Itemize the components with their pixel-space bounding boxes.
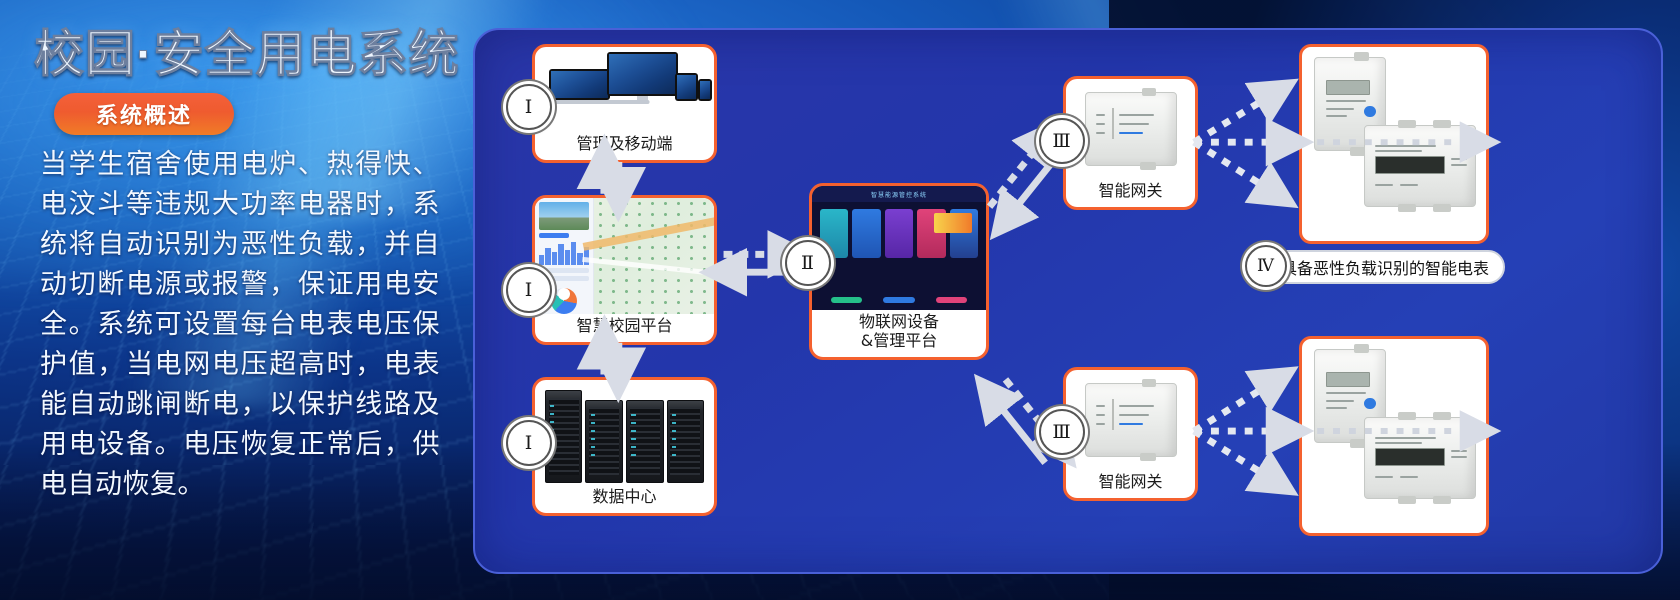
section-badge: 系统概述 xyxy=(54,93,234,135)
numeral-badge-admin-mobile: Ⅰ xyxy=(506,84,552,130)
iot-label-line2: &管理平台 xyxy=(861,331,937,350)
gateway-bottom-thumbnail xyxy=(1066,370,1195,470)
connector-gateway-bottom-meters xyxy=(1194,379,1289,482)
three-phase-meter-icon xyxy=(1364,417,1476,499)
iot-platform-thumbnail: 智慧能源管控系统 xyxy=(812,186,986,310)
overview-body-text: 当学生宿舍使用电炉、热得快、电汶斗等违规大功率电器时，系统将自动识别为恶性负载，… xyxy=(40,145,440,505)
connector-campus-datacenter xyxy=(604,343,618,375)
connector-admin-campus xyxy=(604,162,618,194)
meter-panel-top[interactable] xyxy=(1299,44,1489,244)
node-label-gateway-top: 智能网关 xyxy=(1066,179,1195,207)
numeral-badge-gateway-top: Ⅲ xyxy=(1039,118,1085,164)
monitor-icon xyxy=(607,52,679,96)
data-center-thumbnail xyxy=(535,380,714,485)
connector-campus-iot xyxy=(724,254,792,272)
numeral-badge-iot-platform: Ⅱ xyxy=(785,240,831,286)
node-card-iot-platform[interactable]: 智慧能源管控系统 物联网设备 &管理平台 xyxy=(809,183,989,360)
iot-highlight-chip xyxy=(934,213,972,233)
admin-mobile-thumbnail xyxy=(535,47,714,132)
connector-gateway-top-meters xyxy=(1194,92,1289,195)
numeral-badge-data-center: Ⅰ xyxy=(506,420,552,466)
smart-gateway-icon xyxy=(1085,92,1177,166)
node-label-data-center: 数据中心 xyxy=(535,485,714,513)
dashboard-map xyxy=(594,198,714,314)
numeral-badge-smart-campus: Ⅰ xyxy=(506,267,552,313)
phone-icon xyxy=(698,79,712,101)
laptop-icon xyxy=(549,69,610,100)
node-label-smart-campus: 智慧校园平台 xyxy=(535,314,714,342)
tablet-icon xyxy=(675,73,698,102)
page-title: 校园·安全用电系统 xyxy=(34,14,460,86)
meter-panel-bottom[interactable] xyxy=(1299,336,1489,536)
monitor-base xyxy=(610,100,649,104)
node-label-iot-platform: 物联网设备 &管理平台 xyxy=(812,310,986,357)
numeral-badge-callout: Ⅳ xyxy=(1245,245,1287,287)
three-phase-meter-icon xyxy=(1364,125,1476,207)
overview-column: 校园·安全用电系统 系统概述 当学生宿舍使用电炉、热得快、电汶斗等违规大功率电器… xyxy=(0,0,470,600)
iot-label-line1: 物联网设备 xyxy=(859,312,939,331)
laptop-base xyxy=(546,100,614,104)
node-label-admin-mobile: 管理及移动端 xyxy=(535,132,714,160)
server-rack-icon xyxy=(535,380,714,485)
numeral-badge-gateway-bottom: Ⅲ xyxy=(1039,409,1085,455)
diagram-panel: 管理及移动端 Ⅰ xyxy=(473,28,1663,574)
smart-gateway-icon xyxy=(1085,383,1177,457)
smart-campus-thumbnail xyxy=(535,198,714,314)
node-card-admin-mobile[interactable]: 管理及移动端 xyxy=(532,44,717,163)
node-label-gateway-bottom: 智能网关 xyxy=(1066,470,1195,498)
iot-screen-title: 智慧能源管控系统 xyxy=(812,186,986,202)
node-card-smart-campus[interactable]: 智慧校园平台 xyxy=(532,195,717,345)
node-card-data-center[interactable]: 数据中心 xyxy=(532,377,717,516)
gateway-top-thumbnail xyxy=(1066,79,1195,179)
callout-label: 具备恶性负载识别的智能电表 xyxy=(1281,255,1489,279)
iot-status-bar xyxy=(812,297,986,303)
